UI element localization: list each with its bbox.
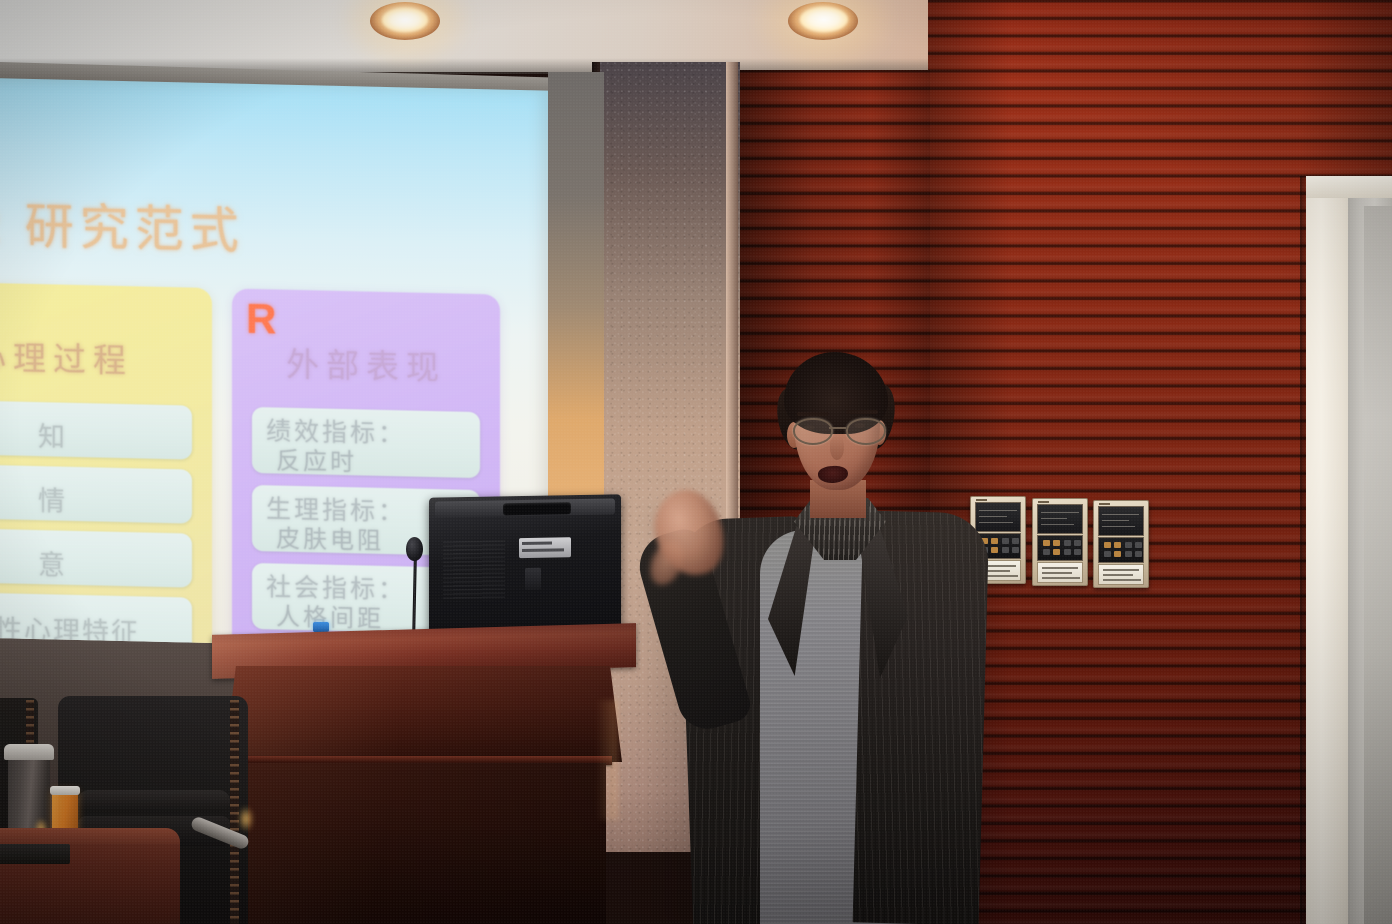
slide-item-text: 情 [0, 476, 192, 521]
lecture-hall-photo: 2 研究范式 O 心理过程 知 情 意 个性心理特征 [0, 0, 1392, 924]
card-header-r: 外部表现 [232, 336, 500, 390]
monitor-port [525, 568, 541, 590]
slide-item: 绩效指标： 反应时 [252, 407, 480, 478]
podium-base-sheen [244, 763, 606, 924]
panel-brand-mark [1099, 503, 1110, 505]
monitor-vent [443, 540, 505, 601]
tea-glass-lid [50, 786, 80, 795]
card-header-o: 心理过程 [0, 329, 212, 384]
slide-item-value: 人格间距 [276, 596, 384, 633]
lens-right [846, 418, 886, 445]
status-indicator-light [313, 622, 329, 632]
presenter [640, 340, 980, 924]
thermos-lid [4, 744, 54, 760]
panel-button-grid[interactable] [1037, 535, 1083, 561]
panel-display [1098, 506, 1144, 536]
microphone-icon [406, 537, 423, 561]
slide-item-text: 知 [0, 412, 192, 457]
wall-control-panel-3[interactable] [1093, 500, 1149, 588]
slide-item-value: 皮肤电阻 [276, 518, 384, 555]
slide-title: 2 研究范式 [0, 186, 245, 263]
slide-item: 知 [0, 399, 192, 459]
glasses-bridge [829, 427, 846, 429]
panel-label-strip [1098, 564, 1144, 585]
panel-display [975, 502, 1021, 532]
podium-edge-highlight [596, 700, 618, 820]
panel-brand-mark [1038, 501, 1049, 503]
slide-item-text: 意 [0, 540, 192, 585]
monitor-handle [503, 502, 571, 515]
slide-card-o: O 心理过程 知 情 意 个性心理特征 [0, 281, 212, 651]
slide-item: 情 [0, 463, 192, 523]
panel-button-grid[interactable] [1098, 537, 1144, 563]
notebook [0, 844, 70, 864]
monitor-spec-label [519, 537, 571, 558]
slide-item-value: 反应时 [276, 440, 357, 477]
doorway-opening[interactable] [1364, 206, 1392, 924]
door-frame-top-bevel [1306, 176, 1392, 198]
nose [830, 436, 844, 460]
chair-lumbar-cushion [78, 790, 230, 812]
warm-highlight-right [238, 806, 254, 832]
podium-body-sheen [224, 666, 622, 762]
wall-control-panel-2[interactable] [1032, 498, 1088, 586]
panel-label-strip [1037, 562, 1083, 583]
table-edge [0, 828, 180, 844]
panel-display [1037, 504, 1083, 534]
slide-item: 意 [0, 527, 192, 587]
confidence-monitor [429, 494, 621, 639]
lens-left [793, 418, 833, 445]
